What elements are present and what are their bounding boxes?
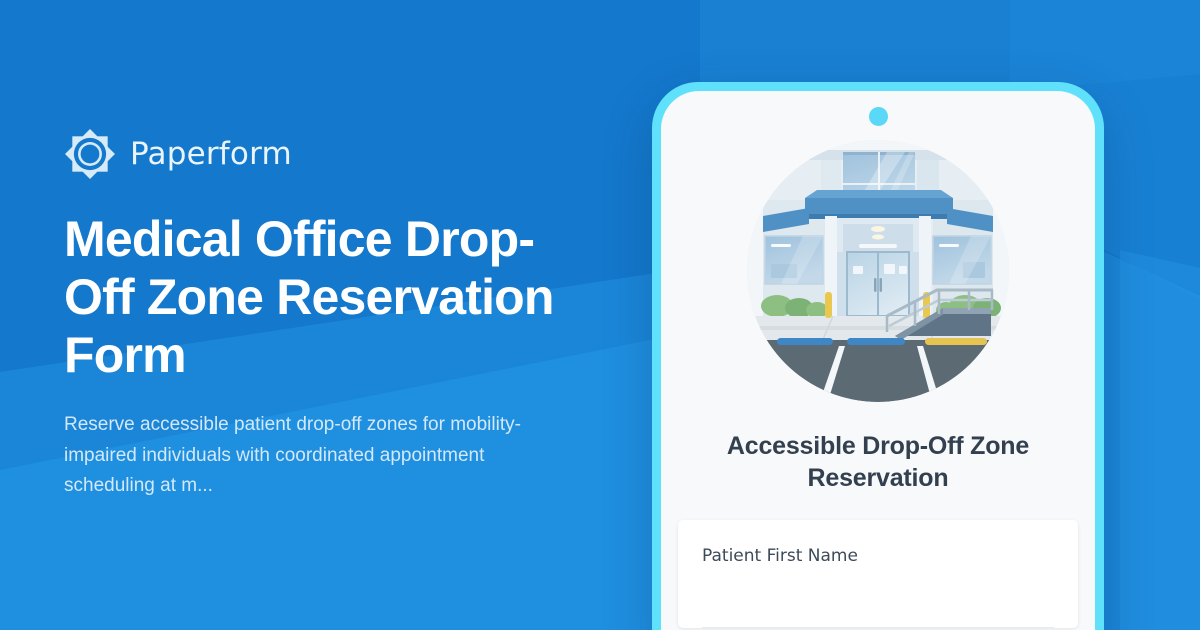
medical-office-entrance-illustration-icon bbox=[747, 140, 1009, 402]
page-title: Medical Office Drop-Off Zone Reservation… bbox=[64, 210, 584, 384]
camera-dot-icon bbox=[869, 107, 888, 126]
phone-mockup: Accessible Drop-Off Zone Reservation Pat… bbox=[652, 82, 1104, 630]
form-hero-illustration bbox=[747, 140, 1009, 402]
brand-name: Paperform bbox=[130, 136, 292, 172]
paperform-star-logo-icon bbox=[64, 128, 116, 180]
phone-screen: Accessible Drop-Off Zone Reservation Pat… bbox=[661, 91, 1095, 630]
form-field-card: Patient First Name bbox=[678, 520, 1078, 628]
brand-lockup: Paperform bbox=[64, 128, 624, 180]
patient-first-name-input[interactable] bbox=[702, 594, 1054, 628]
hero-content: Paperform Medical Office Drop-Off Zone R… bbox=[64, 0, 624, 630]
form-title: Accessible Drop-Off Zone Reservation bbox=[713, 430, 1043, 494]
field-label-patient-first-name: Patient First Name bbox=[702, 546, 1054, 566]
page-subtitle: Reserve accessible patient drop-off zone… bbox=[64, 410, 534, 502]
